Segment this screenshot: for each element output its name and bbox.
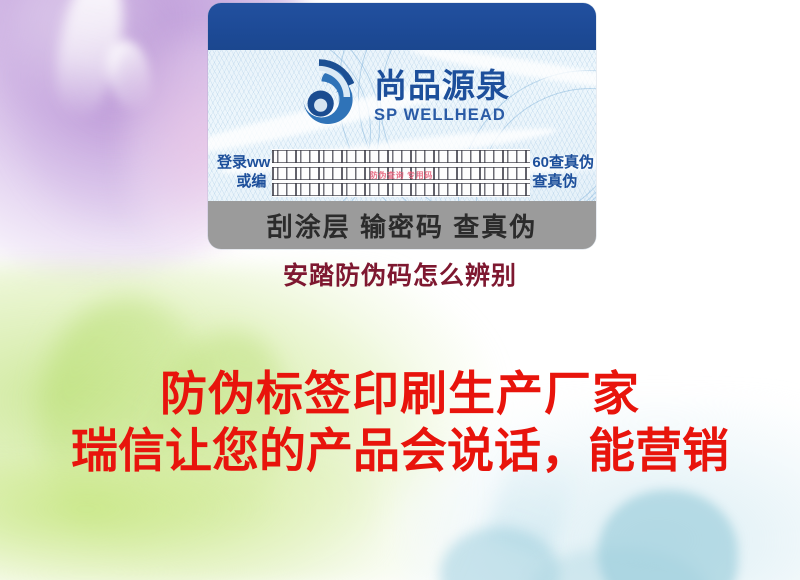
white-highlight-streak-2 <box>103 37 154 112</box>
swirl-wave-logo-icon <box>278 56 360 138</box>
blue-blob-shape-1 <box>598 490 738 580</box>
card-top-navy-band <box>208 3 596 50</box>
code-rule-line <box>272 167 530 168</box>
headline-line-2: 瑞信让您的产品会说话，能营销 <box>0 425 800 478</box>
card-slogan-text: 刮涂层 输密码 查真伪 <box>267 207 537 244</box>
headline-line-1: 防伪标签印刷生产厂家 <box>0 368 800 421</box>
code-rule-line <box>272 183 530 184</box>
right-instruction-text: 60查真伪 查真伪 <box>532 154 594 191</box>
blue-blob-shape-2 <box>440 527 560 580</box>
brand-lockup: 尚品源泉 SP WELLHEAD <box>278 56 510 138</box>
anti-counterfeit-card: 尚品源泉 SP WELLHEAD 登录ww 或编 <box>208 3 596 249</box>
left-instruction-line2: 或编 <box>217 173 270 192</box>
brand-name-en: SP WELLHEAD <box>374 106 510 125</box>
card-bottom-grey-band: 刮涂层 输密码 查真伪 <box>208 201 596 249</box>
brand-text-block: 尚品源泉 SP WELLHEAD <box>374 69 510 126</box>
green-wash-bottom-shape <box>0 460 380 580</box>
brand-name-cn: 尚品源泉 <box>374 69 510 104</box>
code-rule-line <box>272 162 530 163</box>
scratch-off-code-panel[interactable]: 防伪查询 专用码 <box>272 149 530 197</box>
code-strip-row: 登录ww 或编 防伪查询 专用码 60查真伪 <box>208 146 596 200</box>
left-instruction-text: 登录ww 或编 <box>217 154 270 191</box>
white-highlight-streak <box>43 0 138 125</box>
blue-blob-shape-3 <box>530 548 710 580</box>
left-instruction-line1: 登录ww <box>217 154 270 173</box>
card-body: 尚品源泉 SP WELLHEAD 登录ww 或编 <box>208 50 596 201</box>
right-instruction-line2: 查真伪 <box>532 173 594 192</box>
promo-image-canvas: 尚品源泉 SP WELLHEAD 登录ww 或编 <box>0 0 800 580</box>
code-rule-line <box>272 150 530 151</box>
right-instruction-line1: 60查真伪 <box>532 154 594 173</box>
code-rule-line <box>272 195 530 196</box>
code-red-watermark: 防伪查询 专用码 <box>370 170 433 181</box>
promo-headline: 防伪标签印刷生产厂家 瑞信让您的产品会说话，能营销 <box>0 368 800 477</box>
card-caption: 安踏防伪码怎么辨别 <box>0 256 800 292</box>
